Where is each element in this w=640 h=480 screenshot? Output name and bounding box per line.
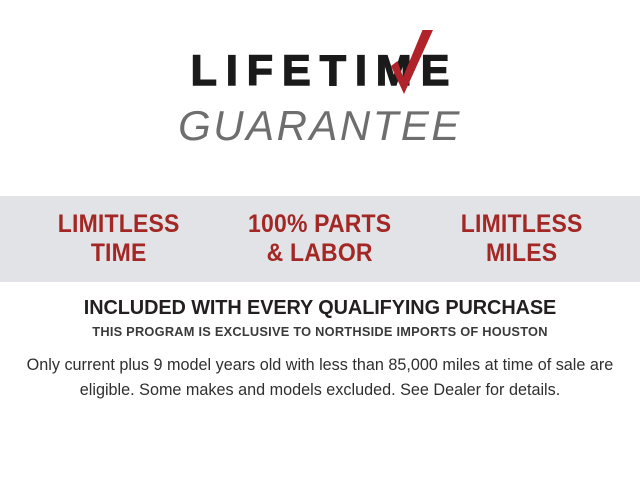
feature-band: LIMITLESS TIME 100% PARTS & LABOR LIMITL… — [0, 196, 640, 282]
lifetime-wordmark: LIFETIME — [0, 46, 640, 96]
guarantee-text: GUARANTEE — [178, 103, 462, 149]
feature-line-2: & LABOR — [227, 239, 412, 268]
fine-print: Only current plus 9 model years old with… — [0, 353, 640, 403]
subheadline: THIS PROGRAM IS EXCLUSIVE TO NORTHSIDE I… — [10, 323, 631, 341]
logo-block: LIFETIME GUARANTEE — [0, 46, 640, 161]
feature-line-1: LIMITLESS — [58, 210, 180, 238]
feature-line-2: MILES — [429, 239, 614, 268]
feature-line-1: 100% PARTS — [248, 210, 391, 238]
feature-column-limitless-time: LIMITLESS TIME — [26, 210, 211, 268]
feature-line-1: LIMITLESS — [460, 210, 582, 238]
headline: INCLUDED WITH EVERY QUALIFYING PURCHASE — [10, 296, 631, 320]
copy-block: INCLUDED WITH EVERY QUALIFYING PURCHASE … — [0, 296, 640, 403]
lifetime-text: LIFETIME — [182, 46, 459, 96]
guarantee-wordmark: GUARANTEE — [0, 103, 640, 149]
feature-line-2: TIME — [26, 239, 211, 268]
lifetime-guarantee-ad: LIFETIME GUARANTEE LIMITLESS TIME 100% P… — [0, 0, 640, 480]
feature-column-limitless-miles: LIMITLESS MILES — [429, 210, 614, 268]
feature-column-parts-labor: 100% PARTS & LABOR — [227, 210, 412, 268]
